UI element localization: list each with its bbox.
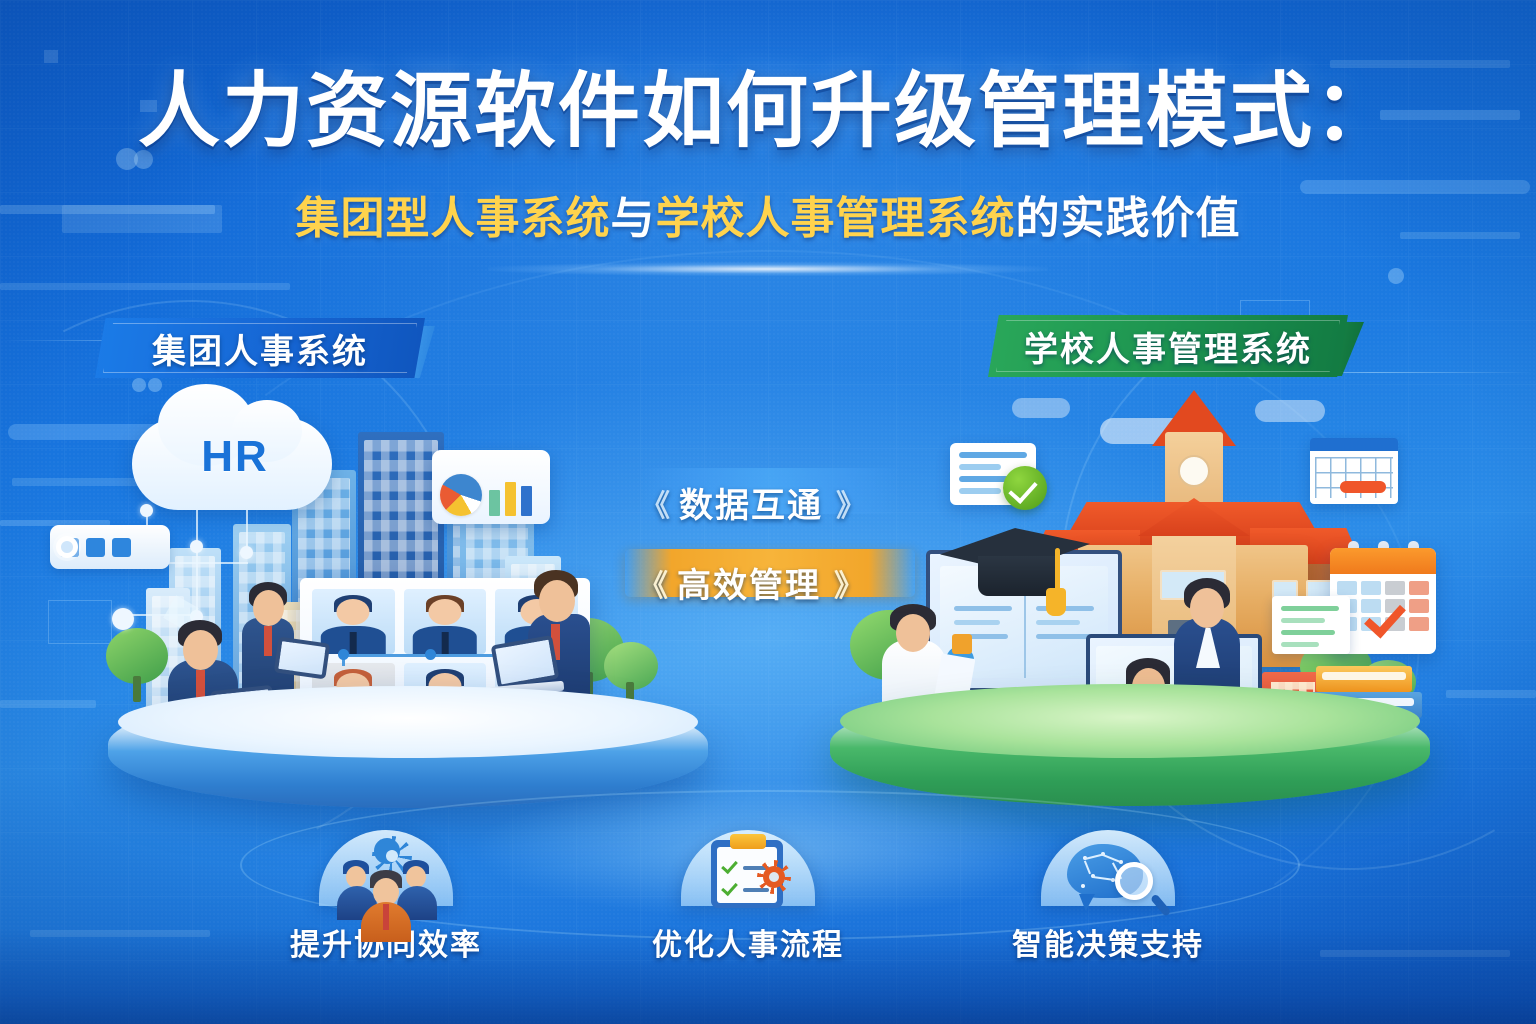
magnifier-icon bbox=[1115, 862, 1153, 900]
schedule-gantt-card bbox=[1310, 438, 1398, 504]
subtitle-part-2: 与 bbox=[611, 194, 656, 243]
title-glow-divider bbox=[488, 262, 1048, 276]
team-gear-icon bbox=[319, 830, 453, 906]
gear-icon bbox=[374, 838, 400, 864]
chevron-left-icon: 《 bbox=[640, 481, 666, 525]
badge-efficient-management: 《 高效管理 》 bbox=[620, 552, 878, 613]
left-banner-label: 集团人事系统 bbox=[152, 324, 368, 373]
feature-collaboration: 提升协同效率 bbox=[281, 830, 491, 964]
notes-card bbox=[1272, 596, 1350, 654]
subtitle-part-1: 集团型人事系统 bbox=[296, 194, 611, 243]
bar-chart-icon bbox=[489, 470, 532, 516]
badge-efficient-management-label: 高效管理 bbox=[677, 558, 821, 607]
magnifier-handle bbox=[1150, 893, 1172, 917]
badge-data-exchange: 《 数据互通 》 bbox=[622, 472, 880, 533]
chevron-right-icon: 》 bbox=[836, 481, 862, 525]
gear-icon bbox=[763, 866, 785, 888]
chevron-left-icon: 《 bbox=[638, 561, 664, 605]
feature-process-optimization-label: 优化人事流程 bbox=[643, 920, 853, 964]
poster-header: 人力资源软件如何升级管理模式： 集团型人事系统与学校人事管理系统的实践价值 bbox=[0, 66, 1536, 246]
right-platform-surface bbox=[840, 684, 1420, 758]
brain-magnifier-icon bbox=[1041, 830, 1175, 906]
analytics-dashboard-card bbox=[432, 450, 550, 524]
poster-canvas: 人力资源软件如何升级管理模式： 集团型人事系统与学校人事管理系统的实践价值 集团… bbox=[0, 0, 1536, 1024]
feature-decision-support: 智能决策支持 bbox=[1003, 830, 1213, 964]
page-title: 人力资源软件如何升级管理模式： bbox=[0, 66, 1536, 158]
graduation-cap-base bbox=[978, 556, 1056, 596]
feature-decision-support-label: 智能决策支持 bbox=[1003, 920, 1213, 964]
clipboard-gear-icon bbox=[681, 830, 815, 906]
graduation-tassel bbox=[1055, 548, 1060, 592]
org-member bbox=[404, 589, 487, 654]
right-banner-label: 学校人事管理系统 bbox=[1024, 322, 1312, 371]
settings-node-icon bbox=[56, 536, 78, 558]
badge-data-exchange-label: 数据互通 bbox=[679, 478, 823, 527]
lock-icon bbox=[952, 634, 972, 654]
feature-process-optimization: 优化人事流程 bbox=[643, 830, 853, 964]
hr-cloud-label: HR bbox=[160, 432, 310, 482]
page-subtitle: 集团型人事系统与学校人事管理系统的实践价值 bbox=[0, 182, 1536, 246]
left-platform-surface bbox=[118, 686, 698, 758]
subtitle-part-4: 的实践价值 bbox=[1016, 194, 1241, 243]
pie-chart-icon bbox=[440, 474, 482, 516]
left-system-banner: 集团人事系统 bbox=[95, 318, 425, 378]
clock-icon bbox=[1178, 455, 1210, 487]
chevron-right-icon: 》 bbox=[834, 561, 860, 605]
subtitle-part-3: 学校人事管理系统 bbox=[656, 194, 1016, 243]
right-system-banner: 学校人事管理系统 bbox=[988, 315, 1348, 377]
check-badge-icon bbox=[1003, 466, 1047, 510]
